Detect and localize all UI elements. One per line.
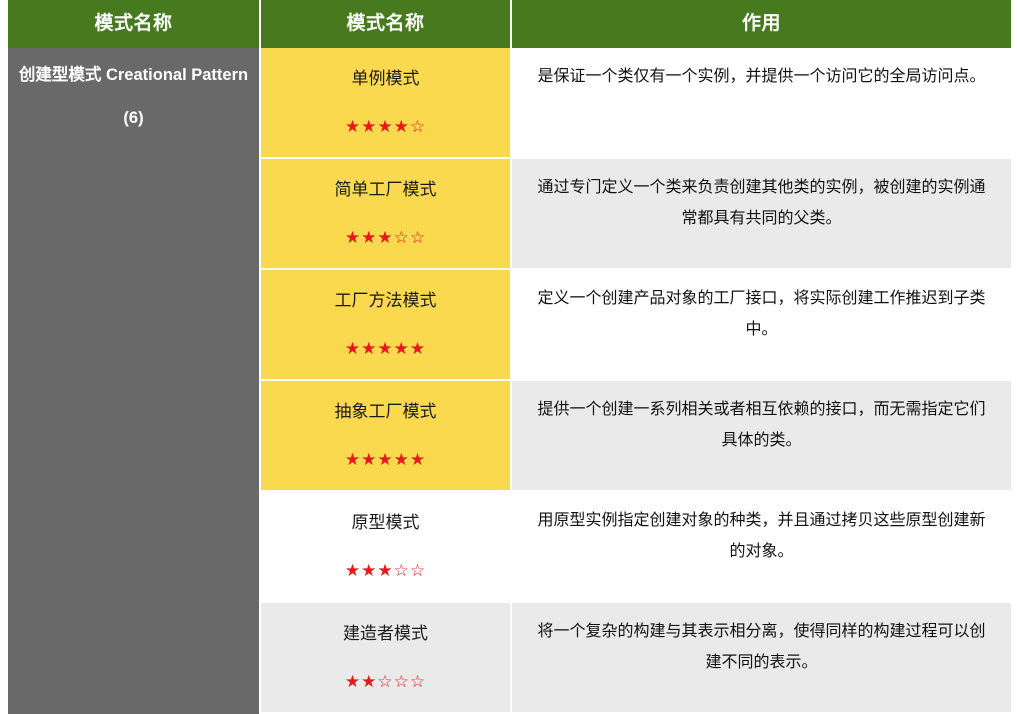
design-pattern-table-container: 模式名称 模式名称 作用 创建型模式 Creational Pattern (6… [0,0,1017,621]
purpose-cell: 提供一个创建一系列相关或者相互依赖的接口，而无需指定它们具体的类。 [512,381,1011,492]
category-title: 创建型模式 Creational Pattern [19,66,248,84]
pattern-cell: 单例模式 ★★★★☆ [261,48,512,159]
pattern-cell: 原型模式 ★★★☆☆ [261,492,512,603]
category-cell-creational: 创建型模式 Creational Pattern (6) [8,48,261,714]
pattern-cell: 建造者模式 ★★☆☆☆ [261,603,512,714]
column-header-purpose: 作用 [512,0,1011,48]
pattern-name: 建造者模式 [261,603,510,644]
purpose-cell: 是保证一个类仅有一个实例，并提供一个访问它的全局访问点。 [512,48,1011,159]
pattern-cell: 工厂方法模式 ★★★★★ [261,270,512,381]
table-header-row: 模式名称 模式名称 作用 [8,0,1011,48]
table-row: 创建型模式 Creational Pattern (6) 单例模式 ★★★★☆ … [8,48,1011,159]
rating-stars: ★★★☆☆ [261,200,510,247]
purpose-cell: 用原型实例指定创建对象的种类，并且通过拷贝这些原型创建新的对象。 [512,492,1011,603]
rating-stars: ★★☆☆☆ [261,644,510,691]
column-header-pattern-name: 模式名称 [261,0,512,48]
pattern-name: 原型模式 [261,492,510,533]
column-header-category: 模式名称 [8,0,261,48]
creational-pattern-table: 模式名称 模式名称 作用 创建型模式 Creational Pattern (6… [8,0,1011,714]
pattern-name: 简单工厂模式 [261,159,510,200]
rating-stars: ★★★★★ [261,422,510,469]
rating-stars: ★★★★☆ [261,89,510,136]
category-count: (6) [18,105,249,132]
purpose-cell: 通过专门定义一个类来负责创建其他类的实例，被创建的实例通常都具有共同的父类。 [512,159,1011,270]
rating-stars: ★★★★★ [261,311,510,358]
purpose-cell: 将一个复杂的构建与其表示相分离，使得同样的构建过程可以创建不同的表示。 [512,603,1011,714]
pattern-name: 单例模式 [261,48,510,89]
purpose-cell: 定义一个创建产品对象的工厂接口，将实际创建工作推迟到子类中。 [512,270,1011,381]
rating-stars: ★★★☆☆ [261,533,510,580]
pattern-name: 抽象工厂模式 [261,381,510,422]
pattern-cell: 抽象工厂模式 ★★★★★ [261,381,512,492]
table-header: 模式名称 模式名称 作用 [8,0,1011,48]
pattern-name: 工厂方法模式 [261,270,510,311]
table-body: 创建型模式 Creational Pattern (6) 单例模式 ★★★★☆ … [8,48,1011,714]
pattern-cell: 简单工厂模式 ★★★☆☆ [261,159,512,270]
